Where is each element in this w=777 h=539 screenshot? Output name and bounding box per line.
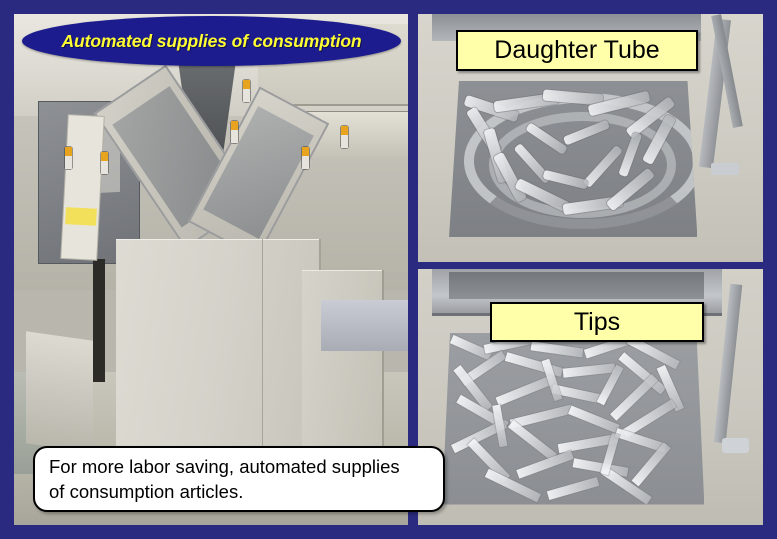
photo-region-beacon-light-5 <box>302 147 309 169</box>
caption-callout: For more labor saving, automated supplie… <box>33 446 445 512</box>
slide-canvas: Automated supplies of consumption Daught… <box>0 0 777 539</box>
photo-region-beacon-light-4 <box>231 121 238 143</box>
photo-region-beacon-light-2 <box>101 152 108 174</box>
photo-region-beacon-light-3 <box>243 80 250 102</box>
photo-region-beacon-light-6 <box>341 126 348 148</box>
photo-region-beacon-light-1 <box>65 147 72 169</box>
photo-region-arm-foot <box>711 163 739 175</box>
photo-region-arm-foot <box>722 438 750 453</box>
label-daughter-tube: Daughter Tube <box>456 30 698 71</box>
caption-text: For more labor saving, automated supplie… <box>49 456 400 502</box>
title-banner-ellipse: Automated supplies of consumption <box>22 16 401 66</box>
label-tips-text: Tips <box>574 308 620 337</box>
title-banner-text: Automated supplies of consumption <box>61 31 361 52</box>
photo-region-trolley <box>26 331 93 453</box>
label-daughter-tube-text: Daughter Tube <box>494 36 659 65</box>
photo-region-dark-slot <box>93 259 105 382</box>
photo-region-hopper-opening <box>449 81 697 237</box>
photo-region-sample-rack <box>321 300 408 351</box>
label-tips: Tips <box>490 302 704 342</box>
photo-region-tips-opening <box>442 333 704 505</box>
